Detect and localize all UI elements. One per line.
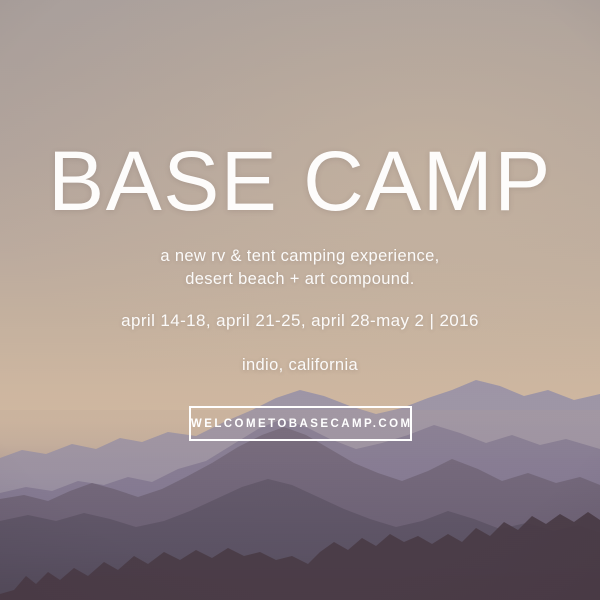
- tagline-line-1: a new rv & tent camping experience,: [0, 245, 600, 268]
- page-title: BASE CAMP: [0, 139, 600, 223]
- poster-content: BASE CAMP a new rv & tent camping experi…: [0, 0, 600, 600]
- tagline-line-2: desert beach + art compound.: [0, 268, 600, 291]
- event-location: indio, california: [0, 354, 600, 376]
- website-link-button[interactable]: WELCOMETOBASECAMP.COM: [189, 406, 412, 441]
- event-dates: april 14-18, april 21-25, april 28-may 2…: [0, 310, 600, 332]
- website-link-label: WELCOMETOBASECAMP.COM: [188, 418, 412, 430]
- base-camp-poster: BASE CAMP a new rv & tent camping experi…: [0, 0, 600, 600]
- tagline-block: a new rv & tent camping experience, dese…: [0, 245, 600, 291]
